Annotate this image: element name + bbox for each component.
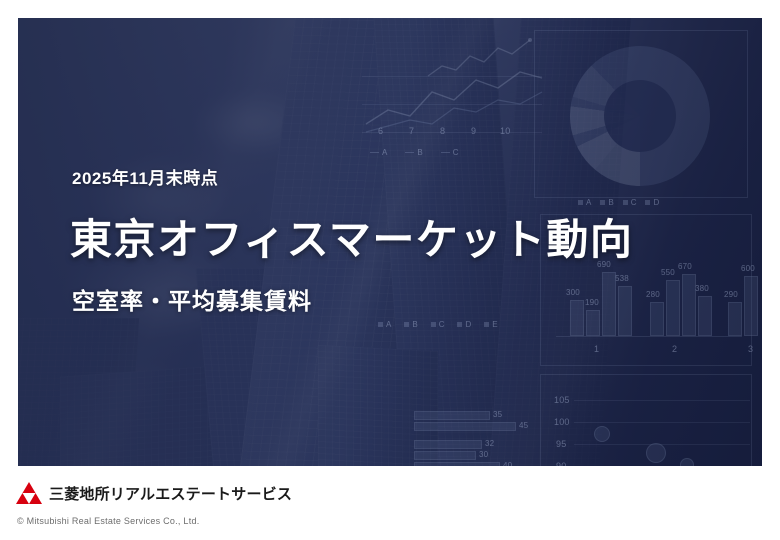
company-logo: 三菱地所リアルエステートサービス bbox=[16, 482, 292, 504]
slide-title: 東京オフィスマーケット動向 bbox=[70, 206, 633, 267]
slide-root: A B C D 6 7 8 9 10 A B C bbox=[0, 0, 780, 540]
slide-subtitle: 空室率・平均募集賃料 bbox=[72, 282, 312, 316]
company-wordmark: 三菱地所リアルエステートサービス bbox=[49, 483, 292, 504]
slide-eyebrow-date: 2025年11月末時点 bbox=[72, 164, 218, 189]
slide-footer: 三菱地所リアルエステートサービス bbox=[0, 466, 780, 540]
mitsubishi-three-diamonds-icon bbox=[16, 482, 42, 504]
copyright-text: © Mitsubishi Real Estate Services Co., L… bbox=[17, 516, 199, 526]
